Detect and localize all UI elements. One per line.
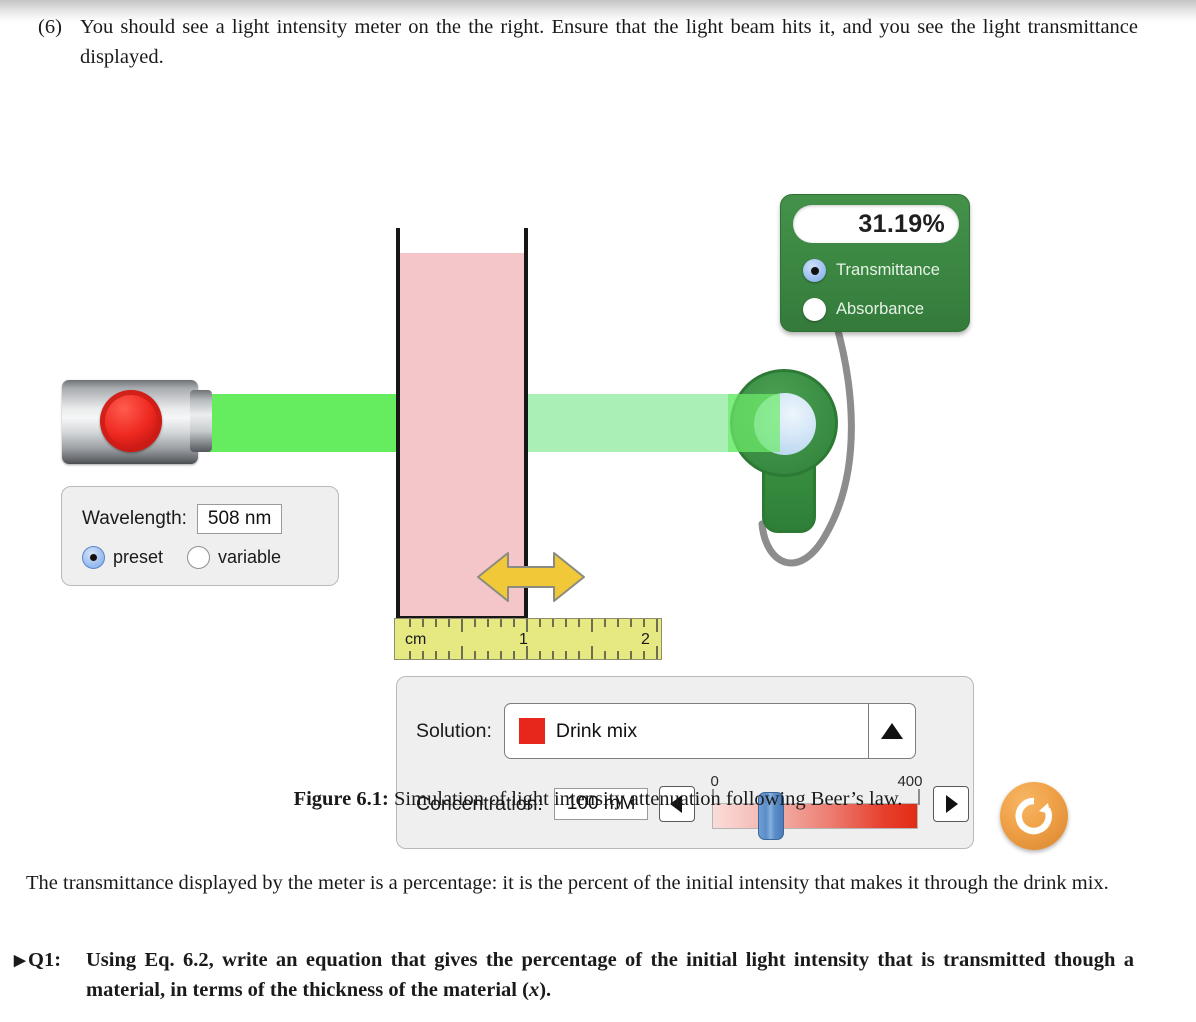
transmittance-readout: 31.19% xyxy=(793,205,959,243)
meter-option-absorbance[interactable]: Absorbance xyxy=(803,298,924,321)
solution-dropdown[interactable]: Drink mix xyxy=(504,703,916,759)
laser-aperture-icon xyxy=(190,390,212,452)
step-paragraph: (6) You should see a light intensity met… xyxy=(38,12,1138,72)
solution-color-swatch xyxy=(519,718,545,744)
question-text-b: ). xyxy=(539,979,551,1001)
wavelength-mode-preset-label: preset xyxy=(113,547,163,568)
ruler-unit-label: cm xyxy=(405,631,426,649)
radio-transmittance-icon[interactable] xyxy=(803,259,826,282)
meter-option-transmittance[interactable]: Transmittance xyxy=(803,259,940,282)
step-text: You should see a light intensity meter o… xyxy=(80,12,1138,72)
question-text-a: Using Eq. 6.2, write an equation that gi… xyxy=(86,949,1134,1001)
solution-selected-value: Drink mix xyxy=(556,720,868,743)
wavelength-panel: Wavelength: 508 nm preset variable xyxy=(61,486,339,586)
radio-variable-icon[interactable] xyxy=(187,546,210,569)
laser-power-button[interactable] xyxy=(100,390,162,452)
meter-option-transmittance-label: Transmittance xyxy=(836,261,940,280)
cuvette-wall-left[interactable] xyxy=(396,228,400,620)
question-q1: ▶ Q1: Using Eq. 6.2, write an equation t… xyxy=(14,945,1134,1005)
question-text: Using Eq. 6.2, write an equation that gi… xyxy=(86,945,1134,1005)
question-marker-icon: ▶ xyxy=(14,946,26,976)
solution-panel: Solution: Drink mix Concentration: 100 m… xyxy=(396,676,974,849)
light-meter-panel: 31.19% Transmittance Absorbance xyxy=(780,194,970,332)
figure-caption-label: Figure 6.1: xyxy=(294,788,389,810)
light-beam-incident xyxy=(196,394,398,452)
step-number: (6) xyxy=(38,12,62,42)
wavelength-mode-variable[interactable]: variable xyxy=(187,546,281,569)
meter-option-absorbance-label: Absorbance xyxy=(836,300,924,319)
solution-label: Solution: xyxy=(416,720,492,743)
ruler[interactable]: cm 1 2 xyxy=(394,618,662,660)
figure-caption-text: Simulation of light intensity attenuatio… xyxy=(394,788,902,810)
wavelength-mode-row: preset variable xyxy=(82,546,281,569)
transmittance-paragraph: The transmittance displayed by the meter… xyxy=(26,868,1131,898)
question-label: Q1: xyxy=(28,945,61,975)
question-variable: x xyxy=(529,979,539,1001)
wavelength-mode-preset[interactable]: preset xyxy=(82,546,163,569)
radio-preset-icon[interactable] xyxy=(82,546,105,569)
double-arrow-horizontal-icon[interactable] xyxy=(474,546,588,608)
wavelength-row: Wavelength: 508 nm xyxy=(82,504,282,534)
radio-absorbance-icon[interactable] xyxy=(803,298,826,321)
wavelength-mode-variable-label: variable xyxy=(218,547,281,568)
wavelength-value[interactable]: 508 nm xyxy=(197,504,282,534)
wavelength-label: Wavelength: xyxy=(82,508,187,530)
caret-up-icon[interactable] xyxy=(868,704,915,758)
figure-caption: Figure 6.1: Simulation of light intensit… xyxy=(0,788,1196,811)
solution-row: Solution: Drink mix xyxy=(416,703,916,759)
simulation-figure: cm 1 2 xyxy=(0,88,1196,778)
probe-beam-overlay xyxy=(728,394,780,452)
ruler-mark-2: 2 xyxy=(641,631,650,649)
